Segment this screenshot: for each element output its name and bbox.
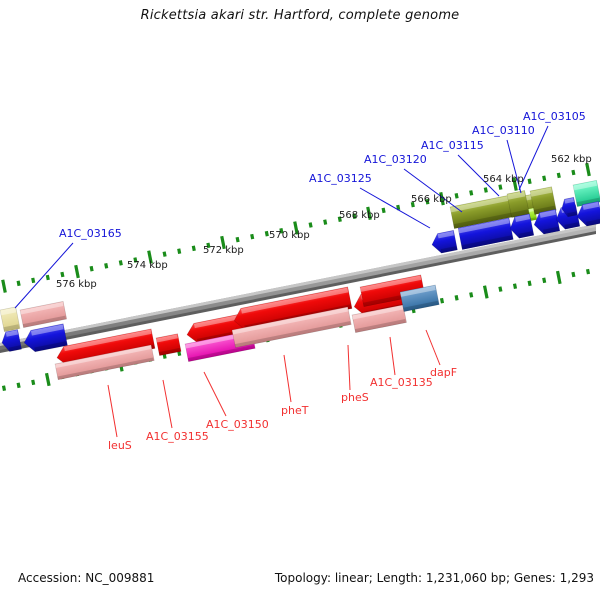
scale-tick-minor (177, 248, 181, 254)
leader-line (284, 355, 291, 402)
scale-tick-minor (455, 193, 459, 199)
gene-labels-bottom[interactable]: leuSA1C_03155A1C_03150pheTpheSA1C_03135d… (108, 366, 457, 452)
scale-tick-minor (250, 234, 254, 240)
topology-text: Topology: linear; Length: 1,231,060 bp; … (275, 571, 594, 585)
scale-tick-minor (2, 385, 6, 391)
leader-line (15, 243, 73, 308)
scale-tick-minor (484, 187, 488, 193)
feature-cds-forward[interactable] (20, 301, 67, 327)
scale-label: 576 kbp (56, 279, 97, 290)
scale-label: 572 kbp (203, 245, 244, 256)
gene-label[interactable]: A1C_03165 (59, 227, 122, 240)
leader-line (348, 345, 350, 390)
genome-map-canvas: Rickettsia akari str. Hartford, complete… (0, 0, 600, 600)
scale-tick-minor (571, 272, 575, 278)
scale-tick-minor (542, 278, 546, 284)
leader-line (108, 385, 117, 437)
scale-tick-minor (17, 383, 21, 389)
feature-cds-forward[interactable] (156, 334, 181, 356)
scale-label: 566 kbp (411, 194, 452, 205)
feature-cds-reverse[interactable] (430, 230, 457, 254)
genome-diagram: A1C_03165A1C_03125A1C_03120A1C_03115A1C_… (0, 0, 600, 600)
scale-label: 574 kbp (127, 260, 168, 271)
gene-label[interactable]: A1C_03115 (421, 139, 484, 152)
scale-tick-minor (17, 281, 21, 287)
scale-tick-minor (31, 380, 35, 386)
accession-text: Accession: NC_009881 (18, 571, 154, 585)
leader-line (204, 372, 226, 416)
scale-tick-minor (323, 219, 327, 225)
scale-tick-minor (440, 298, 444, 304)
scale-tick-minor (557, 173, 561, 179)
gene-label[interactable]: A1C_03155 (146, 430, 209, 443)
scale-tick-minor (46, 275, 50, 281)
feature-cds-forward[interactable] (0, 307, 20, 332)
leader-line (390, 337, 395, 375)
scale-tick-minor (163, 251, 167, 257)
gene-label[interactable]: leuS (108, 439, 132, 452)
scale-tick-minor (498, 184, 502, 190)
gene-label[interactable]: A1C_03150 (206, 418, 269, 431)
scale-tick-minor (455, 295, 459, 301)
scale-tick-minor (60, 272, 64, 278)
scale-tick-minor (498, 286, 502, 292)
scale-label: 570 kbp (269, 230, 310, 241)
scale-tick-minor (309, 222, 313, 228)
gene-label[interactable]: dapF (430, 366, 457, 379)
gene-label[interactable]: pheT (281, 404, 309, 417)
scale-tick-minor (542, 176, 546, 182)
scale-tick-major (483, 285, 489, 298)
leader-line (426, 330, 440, 365)
scale-tick-minor (469, 292, 473, 298)
scale-tick-minor (571, 170, 575, 176)
scale-tick-major (45, 373, 51, 386)
scale-tick-minor (469, 190, 473, 196)
scale-tick-major (556, 271, 562, 284)
gene-label[interactable]: A1C_03120 (364, 153, 427, 166)
gene-label[interactable]: A1C_03135 (370, 376, 433, 389)
feature-cds-reverse[interactable] (22, 324, 67, 354)
scale-tick-minor (586, 269, 590, 275)
scale-tick-minor (528, 179, 532, 185)
scale-tick-minor (528, 281, 532, 287)
scale-tick-minor (119, 260, 123, 266)
scale-label: 568 kbp (339, 210, 380, 221)
scale-tick-minor (236, 237, 240, 243)
gene-label[interactable]: A1C_03125 (309, 172, 372, 185)
scale-tick-minor (31, 278, 35, 284)
scale-tick-major (1, 280, 7, 293)
scale-tick-minor (382, 208, 386, 214)
leader-line (163, 380, 172, 428)
scale-tick-minor (104, 263, 108, 269)
scale-tick-minor (513, 283, 517, 289)
scale-tick-minor (90, 266, 94, 272)
gene-label[interactable]: A1C_03105 (523, 110, 586, 123)
scale-label: 562 kbp (551, 154, 592, 165)
scale-tick-major (74, 265, 80, 278)
gene-label[interactable]: pheS (341, 391, 369, 404)
scale-tick-minor (192, 246, 196, 252)
gene-label[interactable]: A1C_03110 (472, 124, 535, 137)
scale-label: 564 kbp (483, 174, 524, 185)
